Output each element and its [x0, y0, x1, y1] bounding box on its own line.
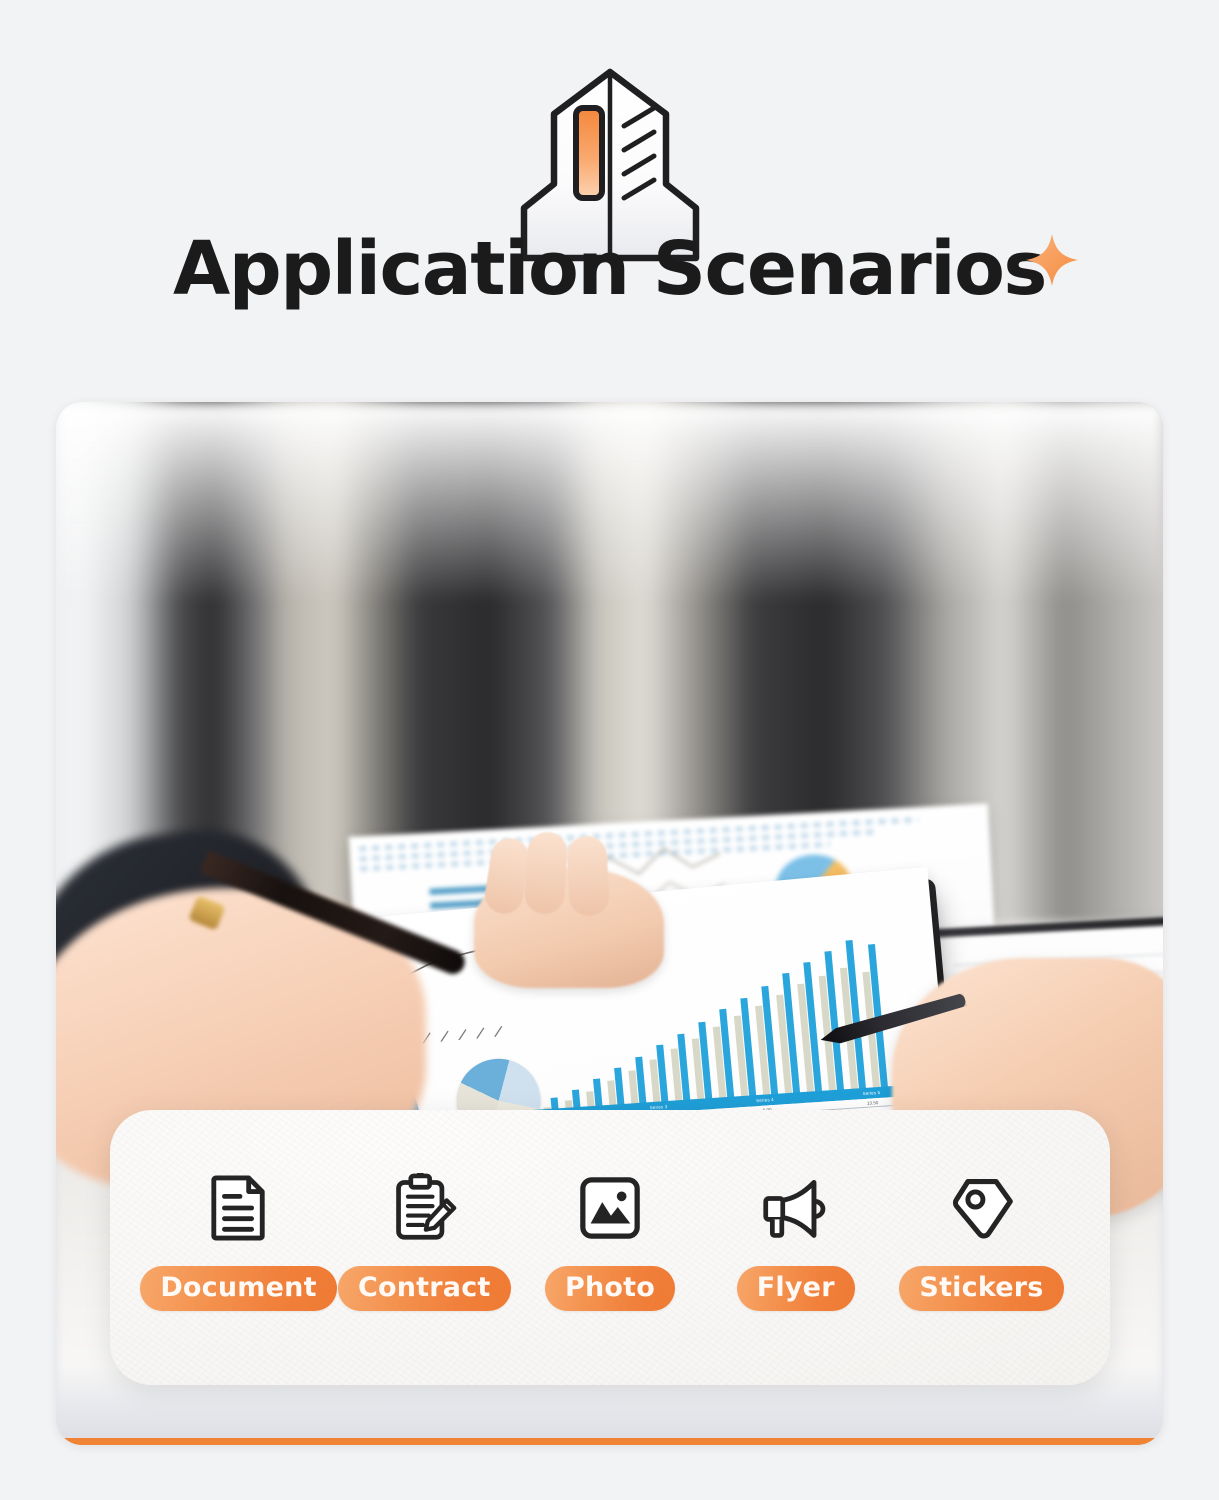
scenario-items-list: Document	[110, 1110, 1110, 1385]
scenario-label-contract: Contract	[338, 1266, 511, 1311]
scenario-item-photo[interactable]: Photo	[518, 1168, 703, 1311]
scenario-label-flyer: Flyer	[737, 1266, 855, 1311]
scenario-item-flyer[interactable]: Flyer	[703, 1168, 888, 1311]
image-picture-icon	[572, 1168, 648, 1248]
scenario-label-photo: Photo	[545, 1266, 675, 1311]
megaphone-icon	[758, 1168, 834, 1248]
sparkle-star-icon	[1022, 230, 1082, 290]
scenario-item-document[interactable]: Document	[146, 1168, 331, 1311]
scenario-label-stickers: Stickers	[899, 1266, 1063, 1311]
scenario-tags-panel: Document	[110, 1110, 1110, 1385]
scenario-item-contract[interactable]: Contract	[332, 1168, 517, 1311]
scenario-photo-card: Series 1Series 2Series 3Series 4Series 5…	[56, 402, 1163, 1445]
price-tag-icon	[944, 1168, 1020, 1248]
document-file-icon	[201, 1168, 277, 1248]
scenario-item-stickers[interactable]: Stickers	[889, 1168, 1074, 1311]
page-title: Application Scenarios	[173, 232, 1046, 306]
window-glare	[56, 402, 1163, 602]
scenario-label-document: Document	[140, 1266, 336, 1311]
clipboard-pencil-icon	[386, 1168, 462, 1248]
header-section: Application Scenarios	[0, 0, 1219, 392]
